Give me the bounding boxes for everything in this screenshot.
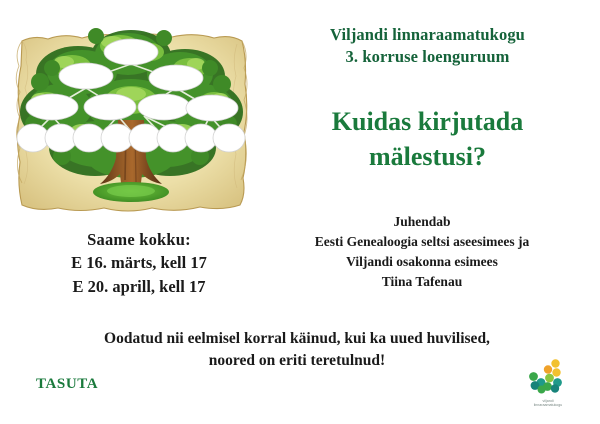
- meeting-date-2: E 20. aprill, kell 17: [14, 275, 264, 298]
- presenter-lead: Juhendab: [246, 212, 598, 232]
- meeting-date-1: E 16. märts, kell 17: [14, 251, 264, 274]
- presenter-block: Juhendab Eesti Genealoogia seltsi aseesi…: [246, 212, 598, 292]
- poster-title-line-1: Kuidas kirjutada: [255, 104, 600, 139]
- poster-title-line-2: mälestusi?: [255, 139, 600, 174]
- meeting-lead: Saame kokku:: [14, 228, 264, 251]
- poster-title: Kuidas kirjutada mälestusi?: [255, 104, 600, 174]
- free-admission-label: TASUTA: [36, 376, 98, 393]
- library-logo-mark: [525, 358, 571, 398]
- invitation-line-2: noored on eriti teretulnud!: [12, 350, 582, 372]
- presenter-role-line-2: Viljandi osakonna esimees: [246, 252, 598, 272]
- library-logo-wordmark: viljandi linnaraamatukogu: [512, 399, 584, 408]
- tree-node-row-1: [104, 39, 158, 65]
- venue-block: Viljandi linnaraamatukogu 3. korruse loe…: [255, 24, 600, 68]
- family-tree-illustration: [0, 8, 262, 220]
- logo-wordmark-line-2: linnaraamatukogu: [512, 403, 584, 407]
- presenter-name: Tiina Tafenau: [246, 272, 598, 292]
- library-logo: viljandi linnaraamatukogu: [512, 358, 584, 412]
- meeting-dates-block: Saame kokku: E 16. märts, kell 17 E 20. …: [14, 228, 264, 298]
- invitation-block: Oodatud nii eelmisel korral käinud, kui …: [12, 328, 582, 373]
- venue-line-1: Viljandi linnaraamatukogu: [255, 24, 600, 46]
- venue-line-2: 3. korruse loenguruum: [255, 46, 600, 68]
- invitation-line-1: Oodatud nii eelmisel korral käinud, kui …: [12, 328, 582, 350]
- presenter-role-line-1: Eesti Genealoogia seltsi aseesimees ja: [246, 232, 598, 252]
